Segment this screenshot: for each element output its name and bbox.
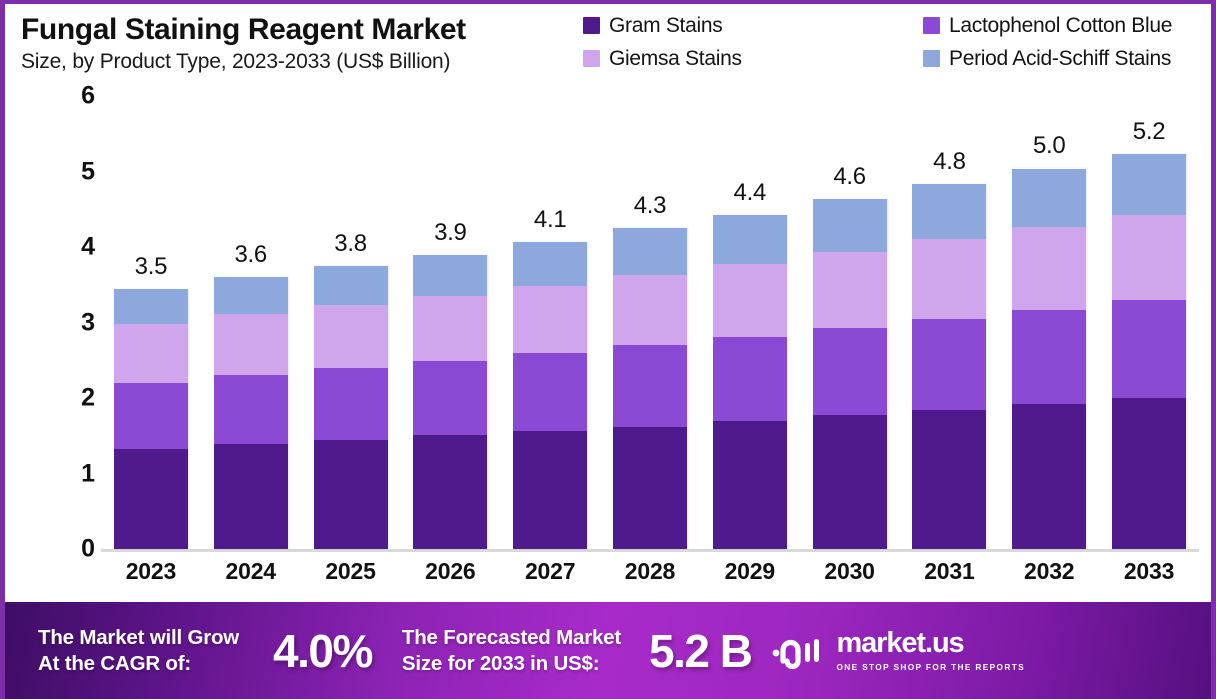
y-axis-tick-label: 6: [51, 82, 95, 111]
brand-logo[interactable]: market.us ONE STOP SHOP FOR THE REPORTS: [771, 629, 1025, 672]
chart-header: Fungal Staining Reagent Market Size, by …: [5, 4, 1211, 96]
bar-stack[interactable]: [813, 199, 887, 549]
bar-segment[interactable]: [613, 228, 687, 275]
footer-banner: The Market will GrowAt the CAGR of: 4.0%…: [0, 602, 1216, 699]
bar-segment[interactable]: [214, 314, 288, 374]
bar-total-label: 3.9: [401, 219, 500, 247]
bar-group[interactable]: 3.9: [401, 96, 500, 549]
bar-stack[interactable]: [513, 242, 587, 549]
legend-swatch-icon: [923, 17, 940, 34]
x-axis-tick-label: 2029: [700, 558, 799, 585]
bar-group[interactable]: 3.6: [201, 96, 300, 549]
brand-text: market.us ONE STOP SHOP FOR THE REPORTS: [836, 629, 1025, 672]
bar-total-label: 4.3: [600, 192, 699, 220]
bar-group[interactable]: 3.8: [301, 96, 400, 549]
bar-segment[interactable]: [713, 215, 787, 265]
bar-segment[interactable]: [413, 361, 487, 435]
bar-stack[interactable]: [613, 228, 687, 549]
bar-segment[interactable]: [1012, 404, 1086, 549]
bar-stack[interactable]: [314, 266, 388, 549]
bar-segment[interactable]: [314, 305, 388, 368]
x-axis-tick-label: 2031: [900, 558, 999, 585]
bar-segment[interactable]: [413, 435, 487, 549]
bar-total-label: 3.6: [201, 241, 300, 269]
legend-swatch-icon: [583, 17, 600, 34]
cagr-value: 4.0%: [273, 624, 372, 678]
bar-segment[interactable]: [813, 199, 887, 252]
bar-total-label: 4.6: [800, 163, 899, 191]
x-axis-tick-label: 2033: [1100, 558, 1199, 585]
x-axis-tick-label: 2028: [600, 558, 699, 585]
x-axis: 2023202420252026202720282029203020312032…: [101, 558, 1199, 585]
legend-item[interactable]: Period Acid-Schiff Stains: [923, 47, 1213, 71]
y-axis-tick-label: 2: [51, 384, 95, 413]
bar-segment[interactable]: [314, 266, 388, 305]
y-axis-tick-label: 0: [51, 535, 95, 564]
bar-segment[interactable]: [1112, 300, 1186, 398]
plot-area: 0123456 3.53.63.83.94.14.34.44.64.85.05.…: [5, 96, 1211, 606]
legend-label: Giemsa Stains: [609, 47, 742, 71]
x-axis-tick-label: 2023: [101, 558, 200, 585]
bar-segment[interactable]: [114, 289, 188, 324]
bar-stack[interactable]: [114, 289, 188, 549]
bar-segment[interactable]: [813, 415, 887, 549]
bar-segment[interactable]: [912, 239, 986, 318]
y-axis: 0123456: [51, 96, 95, 556]
bar-segment[interactable]: [114, 324, 188, 383]
bar-segment[interactable]: [1012, 169, 1086, 228]
bar-segment[interactable]: [613, 427, 687, 549]
bar-total-label: 4.8: [900, 148, 999, 176]
bar-segment[interactable]: [214, 375, 288, 444]
x-axis-tick-label: 2025: [301, 558, 400, 585]
cagr-label: The Market will GrowAt the CAGR of:: [38, 625, 239, 676]
legend-item[interactable]: Giemsa Stains: [583, 47, 923, 71]
bar-segment[interactable]: [513, 242, 587, 286]
bar-stack[interactable]: [1012, 168, 1086, 549]
infographic-root: Fungal Staining Reagent Market Size, by …: [0, 0, 1216, 699]
legend-label: Gram Stains: [609, 14, 722, 38]
bar-total-label: 3.5: [101, 253, 200, 281]
bar-segment[interactable]: [613, 275, 687, 345]
bar-segment[interactable]: [912, 319, 986, 410]
y-axis-tick-label: 5: [51, 157, 95, 186]
chart-legend: Gram StainsLactophenol Cotton BlueGiemsa…: [583, 9, 1213, 75]
bar-total-label: 5.0: [1000, 132, 1099, 160]
x-axis-tick-label: 2032: [1000, 558, 1099, 585]
forecast-label: The Forecasted MarketSize for 2033 in US…: [402, 625, 621, 676]
bar-series-container: 3.53.63.83.94.14.34.44.64.85.05.2: [101, 96, 1199, 549]
x-axis-line: [101, 549, 1199, 552]
brand-name: market.us: [836, 629, 1025, 658]
bar-segment[interactable]: [513, 431, 587, 549]
bar-segment[interactable]: [713, 421, 787, 549]
bar-group[interactable]: 3.5: [101, 96, 200, 549]
bar-segment[interactable]: [912, 410, 986, 549]
bar-segment[interactable]: [613, 345, 687, 427]
bar-stack[interactable]: [413, 255, 487, 549]
bar-group[interactable]: 5.0: [1000, 96, 1099, 549]
bar-segment[interactable]: [1012, 310, 1086, 404]
legend-swatch-icon: [583, 50, 600, 67]
bar-segment[interactable]: [912, 184, 986, 240]
bar-segment[interactable]: [513, 353, 587, 432]
legend-label: Lactophenol Cotton Blue: [949, 14, 1172, 38]
bar-stack[interactable]: [214, 277, 288, 549]
bar-total-label: 4.4: [700, 179, 799, 207]
x-axis-tick-label: 2030: [800, 558, 899, 585]
bar-segment[interactable]: [214, 277, 288, 314]
bar-total-label: 5.2: [1100, 118, 1199, 146]
y-axis-tick-label: 4: [51, 233, 95, 262]
bar-segment[interactable]: [413, 255, 487, 297]
title-block: Fungal Staining Reagent Market Size, by …: [5, 4, 565, 74]
bar-stack[interactable]: [912, 184, 986, 549]
bar-group[interactable]: 4.8: [900, 96, 999, 549]
y-axis-tick-label: 1: [51, 459, 95, 488]
bar-segment[interactable]: [813, 252, 887, 327]
bar-segment[interactable]: [114, 383, 188, 449]
bar-stack[interactable]: [1112, 154, 1186, 549]
forecast-value: 5.2 B: [649, 624, 751, 678]
y-axis-tick-label: 3: [51, 308, 95, 337]
bar-group[interactable]: 4.4: [700, 96, 799, 549]
bar-segment[interactable]: [1112, 154, 1186, 215]
legend-label: Period Acid-Schiff Stains: [949, 47, 1171, 71]
page-title: Fungal Staining Reagent Market: [21, 13, 565, 47]
bar-segment[interactable]: [513, 286, 587, 353]
bar-segment[interactable]: [114, 449, 188, 549]
bar-segment[interactable]: [713, 337, 787, 421]
bar-total-label: 4.1: [501, 206, 600, 234]
bar-segment[interactable]: [813, 328, 887, 416]
x-axis-tick-label: 2024: [201, 558, 300, 585]
bar-segment[interactable]: [314, 440, 388, 549]
market-us-logo-icon: [771, 631, 827, 671]
bar-segment[interactable]: [1112, 398, 1186, 549]
bar-segment[interactable]: [1112, 215, 1186, 300]
brand-tagline: ONE STOP SHOP FOR THE REPORTS: [836, 662, 1025, 672]
x-axis-tick-label: 2026: [401, 558, 500, 585]
bar-segment[interactable]: [314, 368, 388, 440]
bar-segment[interactable]: [1012, 227, 1086, 309]
bar-total-label: 3.8: [301, 230, 400, 258]
bar-segment[interactable]: [713, 264, 787, 336]
page-subtitle: Size, by Product Type, 2023-2033 (US$ Bi…: [21, 50, 565, 74]
bar-group[interactable]: 4.3: [600, 96, 699, 549]
bar-group[interactable]: 4.1: [501, 96, 600, 549]
legend-swatch-icon: [923, 50, 940, 67]
bar-stack[interactable]: [713, 215, 787, 549]
bar-segment[interactable]: [413, 296, 487, 361]
legend-item[interactable]: Gram Stains: [583, 14, 923, 38]
legend-item[interactable]: Lactophenol Cotton Blue: [923, 14, 1213, 38]
x-axis-tick-label: 2027: [501, 558, 600, 585]
bar-group[interactable]: 5.2: [1100, 96, 1199, 549]
bar-group[interactable]: 4.6: [800, 96, 899, 549]
bar-segment[interactable]: [214, 444, 288, 549]
